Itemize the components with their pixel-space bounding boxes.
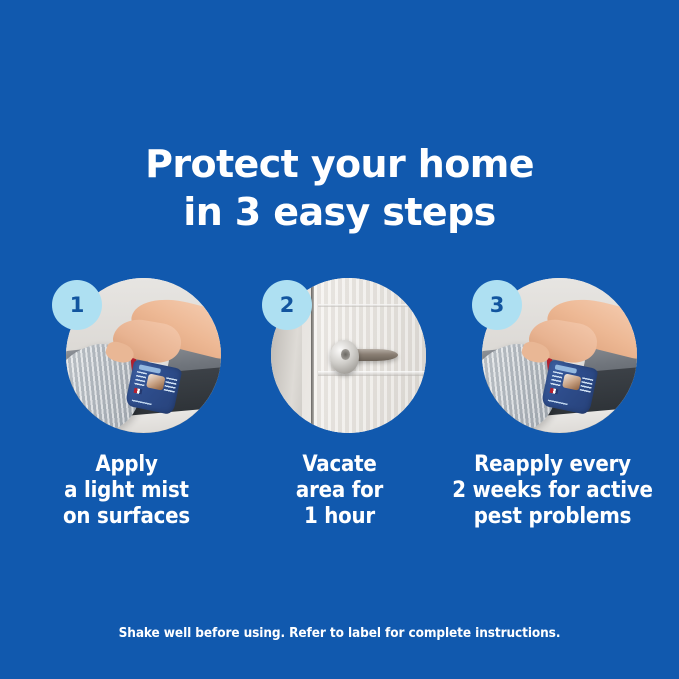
bottle-label-text-right xyxy=(579,378,592,394)
step-2-badge-number: 2 xyxy=(280,293,295,317)
step-1-caption: Apply a light mist on surfaces xyxy=(20,452,233,530)
bottle-label-text-right xyxy=(163,378,176,394)
step-2-caption-line-3: 1 hour xyxy=(233,504,446,530)
headline-line-2: in 3 easy steps xyxy=(0,188,679,236)
step-3-caption-line-2: 2 weeks for active xyxy=(446,478,659,504)
bottle-label-image xyxy=(146,373,165,390)
bottle-label-text-left xyxy=(550,372,563,388)
step-3-caption-line-1: Reapply every xyxy=(446,452,659,478)
door-panel-line-bottom xyxy=(318,371,427,376)
bottle-label-text-left xyxy=(134,372,147,388)
bottle-label-flag xyxy=(550,388,559,394)
step-3-caption: Reapply every 2 weeks for active pest pr… xyxy=(446,452,659,530)
bottle-body xyxy=(125,360,183,416)
headline-line-1: Protect your home xyxy=(0,140,679,188)
step-2-caption: Vacate area for 1 hour xyxy=(233,452,446,530)
step-1-caption-line-1: Apply xyxy=(20,452,233,478)
infographic-canvas: Protect your home in 3 easy steps xyxy=(0,0,679,679)
step-2-caption-line-2: area for xyxy=(233,478,446,504)
bottle-label-fineprint xyxy=(132,399,152,407)
step-2-badge: 2 xyxy=(262,280,312,330)
step-3-caption-line-3: pest problems xyxy=(446,504,659,530)
door-keyhole xyxy=(341,349,350,360)
bottle-label-fineprint xyxy=(548,399,568,407)
steps-row: 1 2 xyxy=(52,278,632,438)
bottle-label-image xyxy=(562,373,581,390)
door-panel-line-top xyxy=(318,304,427,307)
step-1-badge: 1 xyxy=(52,280,102,330)
bottle-body xyxy=(541,360,599,416)
step-2-caption-line-1: Vacate xyxy=(233,452,446,478)
captions-row: Apply a light mist on surfaces Vacate ar… xyxy=(20,452,659,530)
footer-disclaimer: Shake well before using. Refer to label … xyxy=(0,625,679,641)
step-1-caption-line-2: a light mist xyxy=(20,478,233,504)
step-3-badge-number: 3 xyxy=(490,293,505,317)
page-title: Protect your home in 3 easy steps xyxy=(0,140,679,236)
step-1-badge-number: 1 xyxy=(70,293,85,317)
step-1-caption-line-3: on surfaces xyxy=(20,504,233,530)
step-1: 1 xyxy=(52,278,212,438)
step-3-badge: 3 xyxy=(472,280,522,330)
bottle-label-flag xyxy=(134,388,143,394)
step-2: 2 xyxy=(262,278,422,438)
step-3: 3 xyxy=(472,278,632,438)
